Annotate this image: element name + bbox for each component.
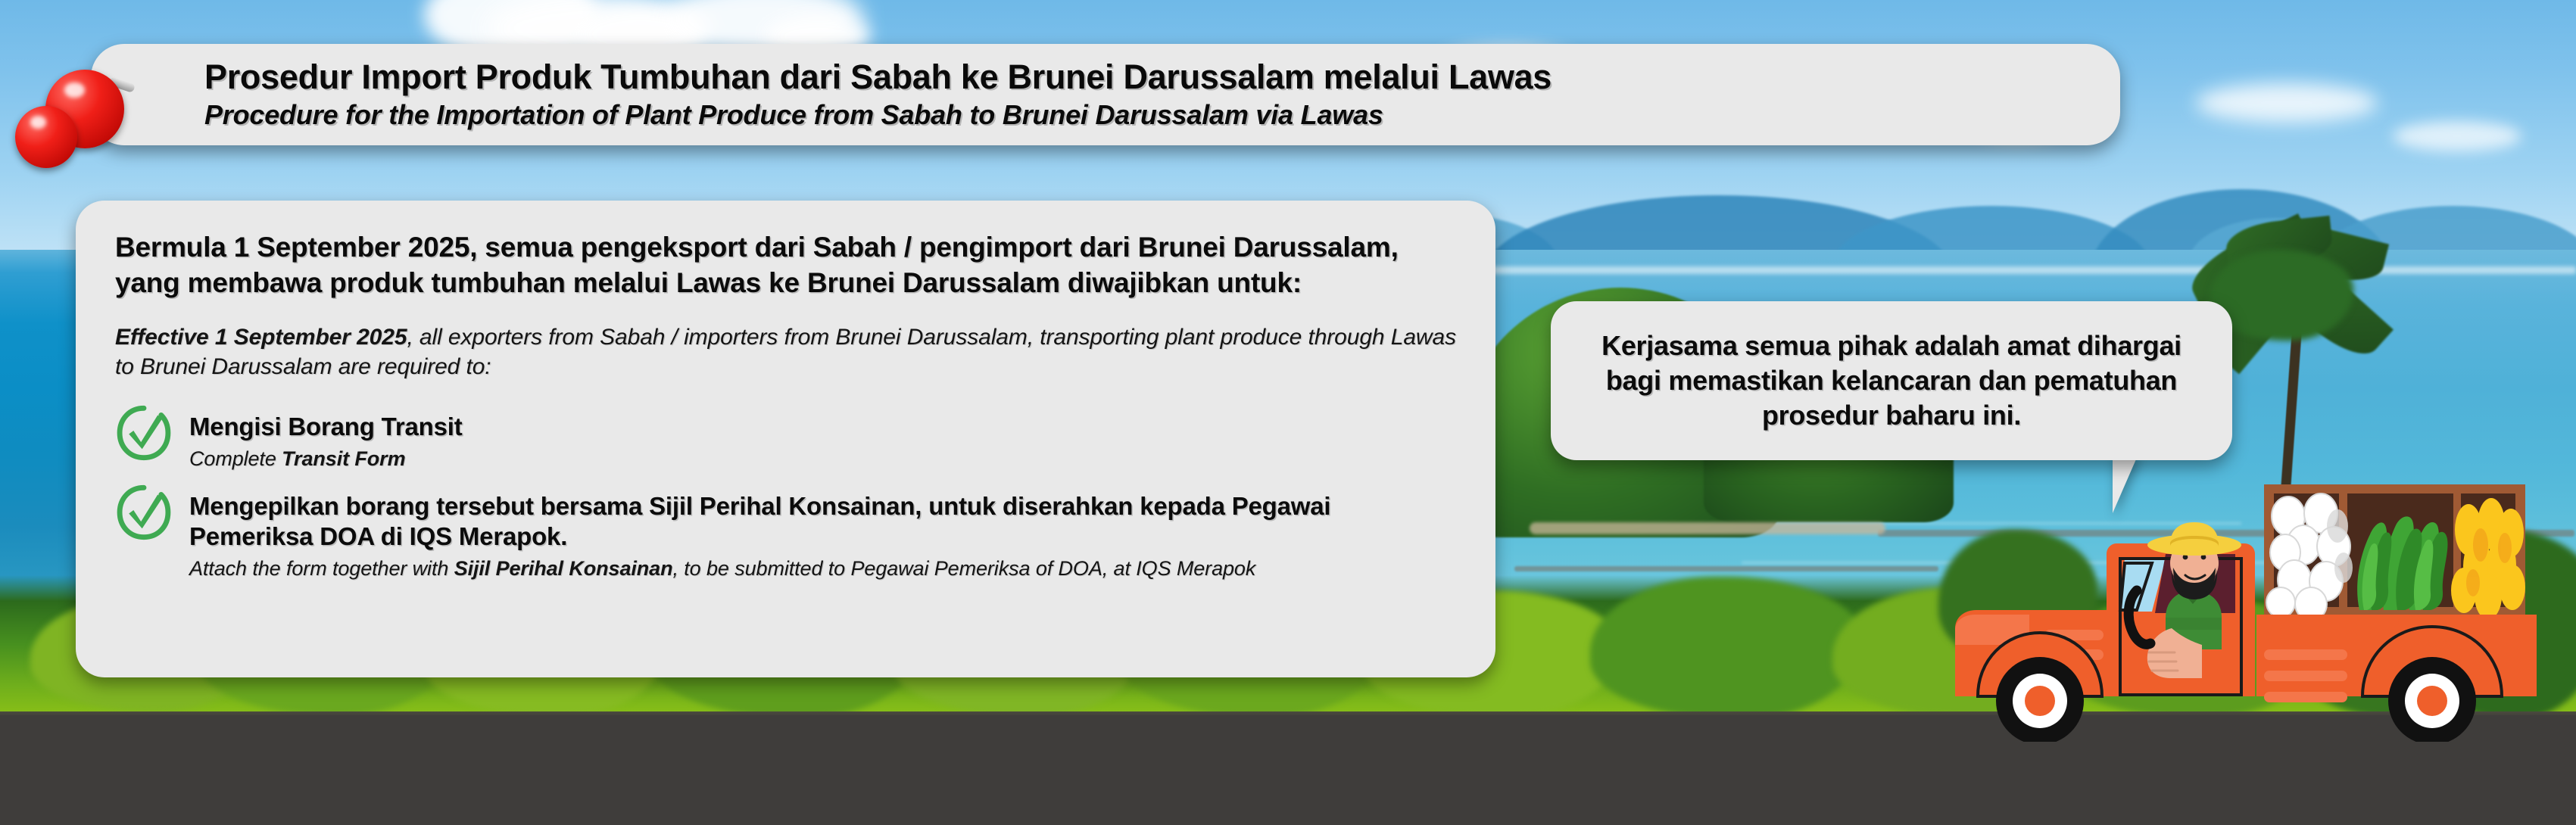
speech-bubble: Kerjasama semua pihak adalah amat diharg… [1551,301,2232,460]
pushpin-icon [15,106,77,168]
intro-paragraph-en: Effective 1 September 2025, all exporter… [115,322,1456,381]
list-item: Mengisi Borang Transit Complete Transit … [115,409,1456,472]
speech-bubble-text: Kerjasama semua pihak adalah amat diharg… [1576,328,2206,433]
list-item-title-en: Attach the form together with Sijil Peri… [189,556,1456,581]
sand-spit [1514,566,1938,571]
check-circle-icon [115,484,173,541]
check-circle-icon [115,404,173,462]
list-item-title-en: Complete Transit Form [189,446,1456,472]
beach-strip [1530,522,1885,534]
list-item-en-bold: Sijil Perihal Konsainan [454,557,673,580]
list-item-en-pre: Complete [189,447,282,470]
list-item-texts: Mengepilkan borang tersebut bersama Siji… [189,488,1456,582]
requirement-list: Mengisi Borang Transit Complete Transit … [115,409,1456,582]
page-subtitle: Procedure for the Importation of Plant P… [204,99,2090,131]
list-item-title-bm: Mengisi Borang Transit [189,412,1456,442]
content-card: Bermula 1 September 2025, semua pengeksp… [76,201,1495,677]
list-item-texts: Mengisi Borang Transit Complete Transit … [189,409,1456,472]
intro-effective-date-en: Effective 1 September 2025 [115,325,407,350]
list-item-title-bm: Mengepilkan borang tersebut bersama Siji… [189,491,1456,553]
pickup-truck-icon [1938,469,2576,742]
page-title: Prosedur Import Produk Tumbuhan dari Sab… [204,58,2090,96]
intro-effective-date-bm: Bermula 1 September 2025, [115,232,477,263]
list-item-en-bold: Transit Form [282,447,405,470]
bush [1590,577,1863,719]
pushpin-group [9,36,176,173]
title-card: Prosedur Import Produk Tumbuhan dari Sab… [91,44,2120,145]
cloud [2393,121,2521,151]
far-shoreline [1477,266,2576,274]
intro-paragraph-bm: Bermula 1 September 2025, semua pengeksp… [115,229,1456,301]
cloud [2196,83,2378,123]
list-item-en-post: , to be submitted to Pegawai Pemeriksa o… [672,557,1255,580]
list-item: Mengepilkan borang tersebut bersama Siji… [115,488,1456,582]
poster-canvas: Prosedur Import Produk Tumbuhan dari Sab… [0,0,2576,825]
list-item-en-pre: Attach the form together with [189,557,454,580]
